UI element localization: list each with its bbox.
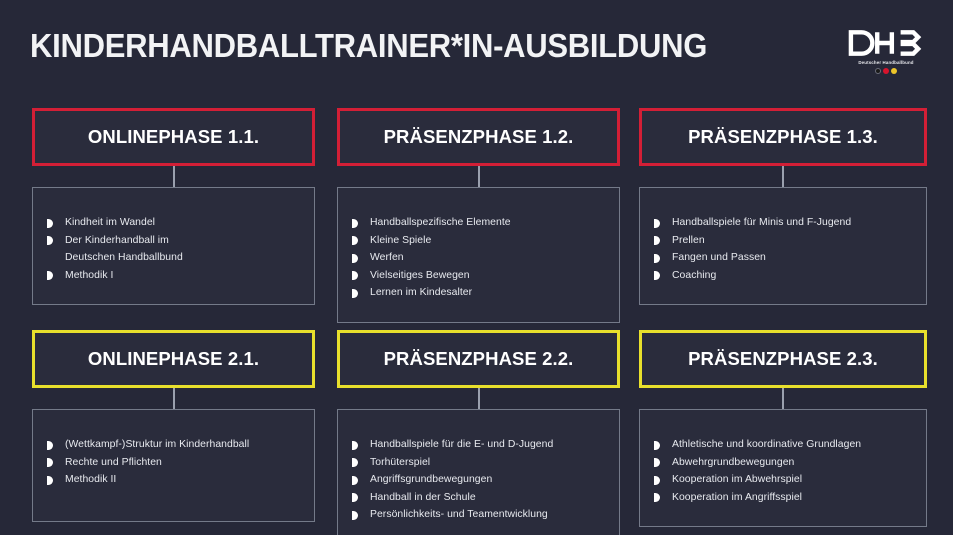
topic-item: Torhüterspiel xyxy=(352,454,605,472)
phase-card-praesenzphase-2-3: PRÄSENZPHASE 2.3.Athletische und koordin… xyxy=(639,330,927,527)
bullet-halfmoon-icon xyxy=(654,493,660,502)
topic-item: Der Kinderhandball im xyxy=(47,232,300,250)
topic-label: Fangen und Passen xyxy=(672,249,912,267)
bullet-halfmoon-icon xyxy=(352,219,358,228)
phase-body-onlinephase-2-1: (Wettkampf-)Struktur im KinderhandballRe… xyxy=(32,409,315,522)
phase-title: PRÄSENZPHASE 1.3. xyxy=(688,126,878,148)
phase-body-praesenzphase-1-3: Handballspiele für Minis und F-JugendPre… xyxy=(639,187,927,305)
bullet-halfmoon-icon xyxy=(654,458,660,467)
topic-label: Vielseitiges Bewegen xyxy=(370,267,605,285)
topic-list: Handballspezifische ElementeKleine Spiel… xyxy=(352,214,605,302)
topic-list: Handballspiele für Minis und F-JugendPre… xyxy=(654,214,912,284)
topic-label: Deutschen Handballbund xyxy=(65,249,300,267)
topic-label: Handballspiele für die E- und D-Jugend xyxy=(370,436,605,454)
topic-label: (Wettkampf-)Struktur im Kinderhandball xyxy=(65,436,300,454)
topic-label: Rechte und Pflichten xyxy=(65,454,300,472)
bullet-halfmoon-icon xyxy=(654,219,660,228)
bullet-halfmoon-icon xyxy=(47,476,53,485)
phase-title: PRÄSENZPHASE 1.2. xyxy=(384,126,574,148)
topic-label: Athletische und koordinative Grundlagen xyxy=(672,436,912,454)
bullet-halfmoon-icon xyxy=(352,441,358,450)
topic-label: Handball in der Schule xyxy=(370,489,605,507)
bullet-halfmoon-icon xyxy=(352,271,358,280)
bullet-halfmoon-icon xyxy=(352,511,358,520)
topic-label: Kooperation im Abwehrspiel xyxy=(672,471,912,489)
topic-label: Persönlichkeits- und Teamentwicklung xyxy=(370,506,605,524)
phase-connector-line xyxy=(782,388,784,409)
bullet-halfmoon-icon xyxy=(47,441,53,450)
topic-item: Fangen und Passen xyxy=(654,249,912,267)
phase-title: PRÄSENZPHASE 2.3. xyxy=(688,348,878,370)
topic-item: Handball in der Schule xyxy=(352,489,605,507)
phase-card-onlinephase-1-1: ONLINEPHASE 1.1.Kindheit im WandelDer Ki… xyxy=(32,108,315,305)
topic-label: Kooperation im Angriffsspiel xyxy=(672,489,912,507)
topic-item: Handballspiele für die E- und D-Jugend xyxy=(352,436,605,454)
topic-label: Torhüterspiel xyxy=(370,454,605,472)
dhb-flag-dots xyxy=(847,68,925,74)
bullet-halfmoon-icon xyxy=(47,219,53,228)
topic-item: Werfen xyxy=(352,249,605,267)
topic-item: Athletische und koordinative Grundlagen xyxy=(654,436,912,454)
phase-connector-line xyxy=(478,166,480,187)
phase-body-praesenzphase-2-3: Athletische und koordinative GrundlagenA… xyxy=(639,409,927,527)
page-header: KINDERHANDBALLTRAINER*IN-AUSBILDUNG Deut… xyxy=(0,0,953,92)
page-title: KINDERHANDBALLTRAINER*IN-AUSBILDUNG xyxy=(30,26,707,66)
phase-title: PRÄSENZPHASE 2.2. xyxy=(384,348,574,370)
topic-item: Lernen im Kindesalter xyxy=(352,284,605,302)
phase-connector-line xyxy=(782,166,784,187)
dhb-wordmark-icon xyxy=(847,28,925,58)
phase-card-praesenzphase-1-2: PRÄSENZPHASE 1.2.Handballspezifische Ele… xyxy=(337,108,620,323)
topic-item: Methodik I xyxy=(47,267,300,285)
topic-item: Kooperation im Abwehrspiel xyxy=(654,471,912,489)
topic-label: Handballspiele für Minis und F-Jugend xyxy=(672,214,912,232)
bullet-halfmoon-icon xyxy=(352,289,358,298)
topic-item: Deutschen Handballbund xyxy=(47,249,300,267)
phase-card-praesenzphase-1-3: PRÄSENZPHASE 1.3.Handballspiele für Mini… xyxy=(639,108,927,305)
bullet-halfmoon-icon xyxy=(654,254,660,263)
phase-header-onlinephase-2-1[interactable]: ONLINEPHASE 2.1. xyxy=(32,330,315,388)
phase-body-praesenzphase-2-2: Handballspiele für die E- und D-JugendTo… xyxy=(337,409,620,535)
topic-item: Methodik II xyxy=(47,471,300,489)
topic-item: (Wettkampf-)Struktur im Kinderhandball xyxy=(47,436,300,454)
phase-title: ONLINEPHASE 1.1. xyxy=(88,126,259,148)
topic-item: Rechte und Pflichten xyxy=(47,454,300,472)
topic-item: Prellen xyxy=(654,232,912,250)
phase-connector-line xyxy=(173,388,175,409)
topic-item: Kindheit im Wandel xyxy=(47,214,300,232)
topic-list: Athletische und koordinative GrundlagenA… xyxy=(654,436,912,506)
topic-item: Angriffsgrundbewegungen xyxy=(352,471,605,489)
topic-label: Abwehrgrundbewegungen xyxy=(672,454,912,472)
bullet-halfmoon-icon xyxy=(654,441,660,450)
topic-item: Abwehrgrundbewegungen xyxy=(654,454,912,472)
phase-body-onlinephase-1-1: Kindheit im WandelDer Kinderhandball imD… xyxy=(32,187,315,305)
phase-grid: ONLINEPHASE 1.1.Kindheit im WandelDer Ki… xyxy=(0,100,953,530)
topic-label: Werfen xyxy=(370,249,605,267)
bullet-halfmoon-icon xyxy=(654,236,660,245)
topic-label: Handballspezifische Elemente xyxy=(370,214,605,232)
phase-header-praesenzphase-2-3[interactable]: PRÄSENZPHASE 2.3. xyxy=(639,330,927,388)
topic-item: Handballspiele für Minis und F-Jugend xyxy=(654,214,912,232)
topic-list: Kindheit im WandelDer Kinderhandball imD… xyxy=(47,214,300,284)
phase-card-onlinephase-2-1: ONLINEPHASE 2.1.(Wettkampf-)Struktur im … xyxy=(32,330,315,522)
bullet-halfmoon-icon xyxy=(352,493,358,502)
phase-card-praesenzphase-2-2: PRÄSENZPHASE 2.2.Handballspiele für die … xyxy=(337,330,620,535)
topic-label: Angriffsgrundbewegungen xyxy=(370,471,605,489)
topic-item: Handballspezifische Elemente xyxy=(352,214,605,232)
dhb-dot-black xyxy=(875,68,881,74)
phase-header-praesenzphase-2-2[interactable]: PRÄSENZPHASE 2.2. xyxy=(337,330,620,388)
bullet-halfmoon-icon xyxy=(47,458,53,467)
topic-label: Methodik I xyxy=(65,267,300,285)
dhb-logo: Deutscher Handballbund xyxy=(847,28,925,86)
topic-list: (Wettkampf-)Struktur im KinderhandballRe… xyxy=(47,436,300,489)
bullet-halfmoon-icon xyxy=(352,236,358,245)
topic-item: Kooperation im Angriffsspiel xyxy=(654,489,912,507)
phase-title: ONLINEPHASE 2.1. xyxy=(88,348,259,370)
topic-list: Handballspiele für die E- und D-JugendTo… xyxy=(352,436,605,524)
dhb-subtitle: Deutscher Handballbund xyxy=(847,60,925,65)
phase-header-praesenzphase-1-3[interactable]: PRÄSENZPHASE 1.3. xyxy=(639,108,927,166)
bullet-halfmoon-icon xyxy=(654,476,660,485)
dhb-dot-red xyxy=(883,68,889,74)
bullet-halfmoon-icon xyxy=(47,271,53,280)
topic-label: Prellen xyxy=(672,232,912,250)
phase-header-praesenzphase-1-2[interactable]: PRÄSENZPHASE 1.2. xyxy=(337,108,620,166)
phase-header-onlinephase-1-1[interactable]: ONLINEPHASE 1.1. xyxy=(32,108,315,166)
bullet-halfmoon-icon xyxy=(654,271,660,280)
topic-item: Kleine Spiele xyxy=(352,232,605,250)
phase-body-praesenzphase-1-2: Handballspezifische ElementeKleine Spiel… xyxy=(337,187,620,323)
topic-label: Kleine Spiele xyxy=(370,232,605,250)
topic-label: Lernen im Kindesalter xyxy=(370,284,605,302)
topic-item: Vielseitiges Bewegen xyxy=(352,267,605,285)
bullet-halfmoon-icon xyxy=(352,458,358,467)
topic-label: Kindheit im Wandel xyxy=(65,214,300,232)
topic-label: Methodik II xyxy=(65,471,300,489)
bullet-halfmoon-icon xyxy=(47,236,53,245)
phase-connector-line xyxy=(478,388,480,409)
bullet-halfmoon-icon xyxy=(352,254,358,263)
topic-item: Coaching xyxy=(654,267,912,285)
topic-label: Der Kinderhandball im xyxy=(65,232,300,250)
topic-item: Persönlichkeits- und Teamentwicklung xyxy=(352,506,605,524)
topic-label: Coaching xyxy=(672,267,912,285)
bullet-halfmoon-icon xyxy=(352,476,358,485)
dhb-dot-gold xyxy=(891,68,897,74)
phase-connector-line xyxy=(173,166,175,187)
